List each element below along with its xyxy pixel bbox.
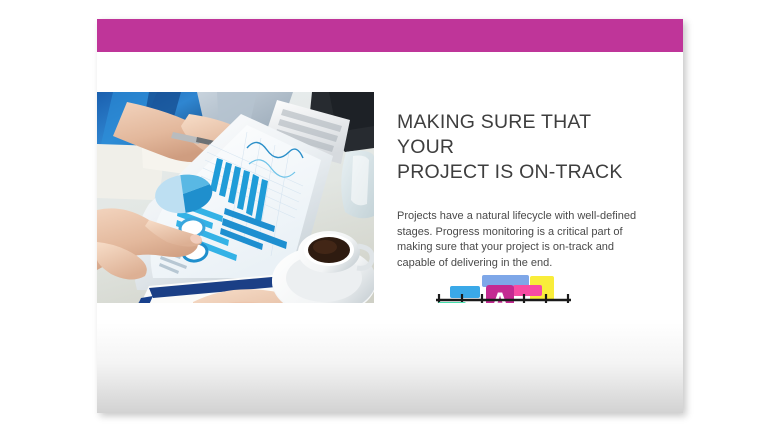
- blue-bar-left-icon: [450, 286, 480, 298]
- gantt-chart-illustration: A: [434, 268, 579, 340]
- pink-bar-icon: [513, 285, 542, 296]
- slide-card: MAKING SURE THAT YOUR PROJECT IS ON-TRAC…: [97, 19, 683, 413]
- letter-a-glyph: A: [491, 288, 509, 316]
- body-paragraph: Projects have a natural lifecycle with w…: [397, 209, 647, 271]
- photo-tablet-meeting: [97, 92, 374, 345]
- orange-bar-bottom-icon: [490, 319, 541, 331]
- slide-photo: [97, 92, 374, 345]
- text-column: MAKING SURE THAT YOUR PROJECT IS ON-TRAC…: [397, 110, 647, 271]
- page-title: MAKING SURE THAT YOUR PROJECT IS ON-TRAC…: [397, 110, 647, 185]
- lime-bar-icon: [458, 310, 484, 325]
- gantt-chart-svg: A: [434, 268, 579, 340]
- top-accent-banner: [97, 19, 683, 52]
- orange-bar-right-icon: [521, 308, 553, 319]
